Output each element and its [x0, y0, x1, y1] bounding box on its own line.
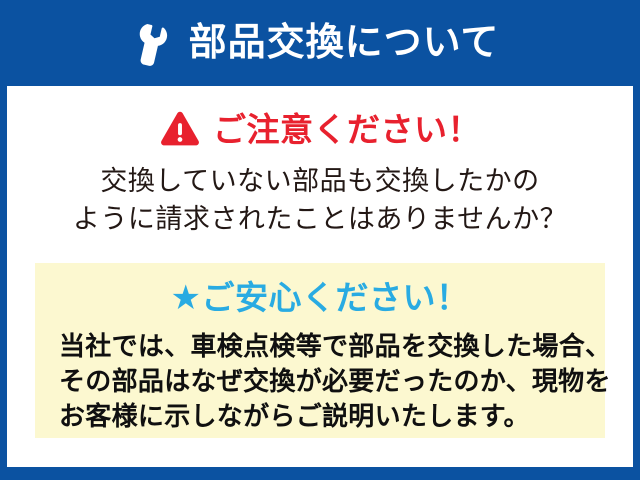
assurance-body-text: 当社では、車検点検等で部品を交換した場合、 その部品はなぜ交換が必要だったのか、…: [35, 315, 605, 434]
assurance-line: お客様に示しながらご説明いたします。: [59, 399, 605, 434]
assurance-panel: ★ご安心ください！ 当社では、車検点検等で部品を交換した場合、 その部品はなぜ交…: [35, 263, 605, 438]
parts-replacement-banner: 部品交換について ご注意ください！ 交換していない部品も交換したかの ように請求…: [0, 0, 640, 480]
caution-title: ご注意ください！: [213, 113, 481, 146]
banner-header: 部品交換について: [0, 0, 640, 86]
header-content: 部品交換について: [129, 20, 500, 66]
page-title: 部品交換について: [189, 24, 500, 62]
caution-line: ように請求されたことはありませんか？: [7, 200, 633, 238]
star-icon: ★: [171, 279, 202, 317]
wrench-icon: [129, 20, 175, 66]
caution-line: 交換していない部品も交換したかの: [7, 162, 633, 200]
caution-body-text: 交換していない部品も交換したかの ように請求されたことはありませんか？: [7, 162, 633, 238]
assurance-title: ★ご安心ください！: [35, 263, 605, 315]
caution-heading: ご注意ください！: [7, 108, 633, 150]
assurance-title-text: ご安心ください！: [201, 279, 469, 316]
warning-triangle-icon: [159, 109, 201, 151]
content-panel: ご注意ください！ 交換していない部品も交換したかの ように請求されたことはありま…: [7, 86, 633, 467]
assurance-line: 当社では、車検点検等で部品を交換した場合、: [59, 329, 605, 364]
assurance-line: その部品はなぜ交換が必要だったのか、現物を: [59, 364, 605, 399]
